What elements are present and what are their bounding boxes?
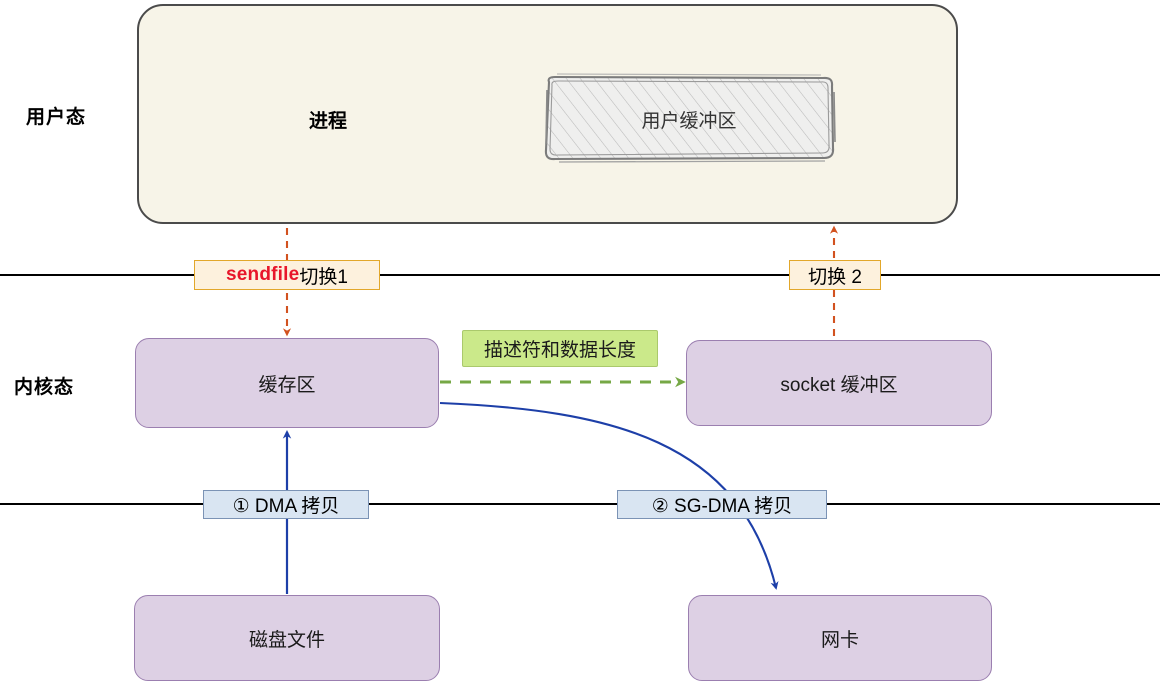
- network-card-label: 网卡: [821, 625, 859, 652]
- descriptor-length-pill: 描述符和数据长度: [462, 330, 658, 367]
- sg-dma-copy-label: ② SG-DMA 拷贝: [652, 491, 793, 518]
- dma-copy-pill: ① DMA 拷贝: [203, 490, 369, 519]
- network-card-box: 网卡: [688, 595, 992, 681]
- diagram-canvas: 用户态 内核态 进程: [0, 0, 1160, 686]
- sg-dma-copy-pill: ② SG-DMA 拷贝: [617, 490, 827, 519]
- descriptor-length-label: 描述符和数据长度: [484, 335, 636, 362]
- socket-buffer-label: socket 缓冲区: [780, 370, 897, 397]
- kernel-hardware-divider-line: [0, 503, 1160, 505]
- dma-copy-label: ① DMA 拷贝: [233, 491, 340, 518]
- process-label: 进程: [309, 106, 347, 133]
- sendfile-switch-1-pill: sendfile 切换1: [194, 260, 380, 290]
- disk-file-label: 磁盘文件: [249, 625, 325, 652]
- disk-file-box: 磁盘文件: [134, 595, 440, 681]
- socket-buffer-box: socket 缓冲区: [686, 340, 992, 426]
- sendfile-keyword: sendfile: [226, 264, 299, 286]
- user-buffer-box: 用户缓冲区: [533, 72, 845, 167]
- sendfile-switch-text: 切换1: [299, 262, 348, 289]
- kernel-cache-buffer-box: 缓存区: [135, 338, 439, 428]
- switch-2-label: 切换 2: [808, 262, 862, 289]
- kernel-cache-buffer-label: 缓存区: [258, 370, 315, 397]
- user-kernel-divider-line: [0, 274, 1160, 276]
- user-space-container: 进程: [137, 4, 958, 224]
- user-buffer-label: 用户缓冲区: [533, 72, 845, 167]
- user-mode-label: 用户态: [26, 102, 86, 129]
- kernel-mode-label: 内核态: [14, 372, 74, 399]
- switch-2-pill: 切换 2: [789, 260, 881, 290]
